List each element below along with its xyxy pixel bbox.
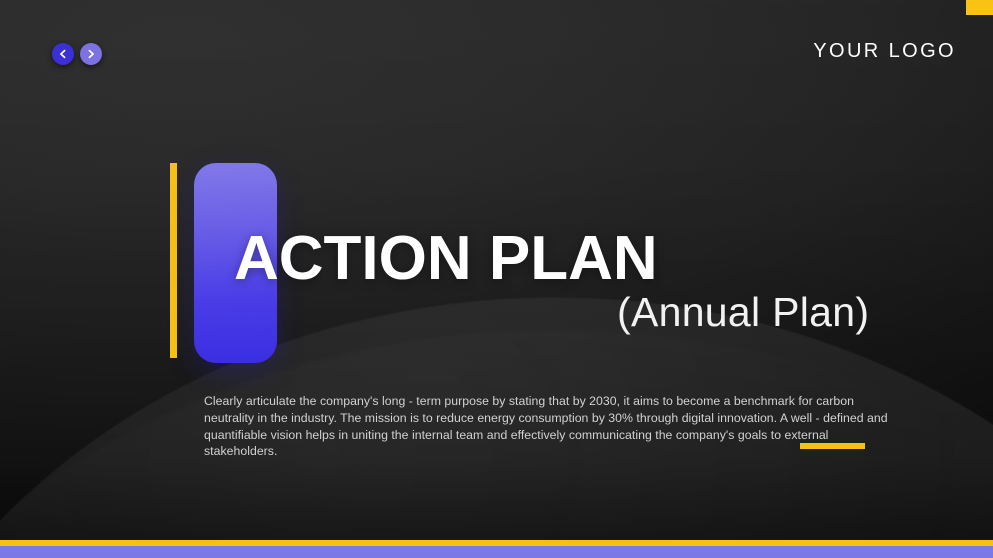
footer-purple-bar — [0, 546, 993, 558]
next-slide-button[interactable] — [80, 43, 102, 65]
yellow-underline-accent — [800, 443, 865, 449]
prev-slide-button[interactable] — [52, 43, 74, 65]
slide-canvas: YOUR LOGO ACTION PLAN (Annual Plan) Clea… — [0, 0, 993, 558]
slide-body-text: Clearly articulate the company's long - … — [204, 393, 897, 460]
top-right-yellow-accent — [966, 0, 993, 15]
chevron-left-icon — [58, 49, 68, 59]
chevron-right-icon — [86, 49, 96, 59]
slide-title: ACTION PLAN — [234, 228, 658, 290]
slide-navigation — [52, 43, 102, 65]
yellow-vertical-bar — [170, 163, 177, 358]
slide-subtitle: (Annual Plan) — [617, 292, 869, 333]
brand-logo: YOUR LOGO — [813, 40, 956, 63]
